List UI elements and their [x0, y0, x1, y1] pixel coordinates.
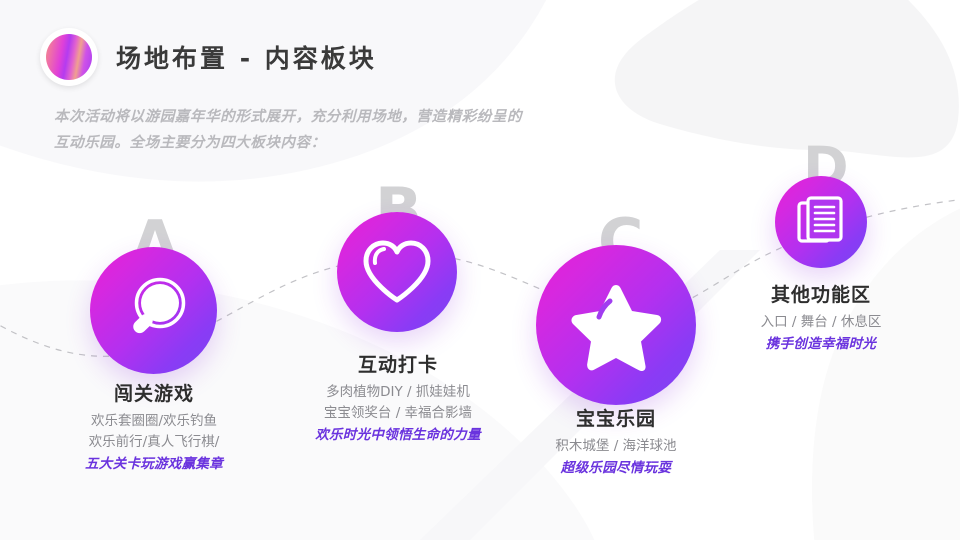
block-line-a-2: 欢乐前行/真人飞行棋/ — [18, 432, 290, 453]
documents-icon — [795, 195, 847, 249]
block-line-d-1: 入口 / 舞台 / 休息区 — [685, 312, 957, 333]
block-highlight-d: 携手创造幸福时光 — [685, 334, 957, 355]
slide-header: 场地布置 - 内容板块 — [40, 28, 377, 86]
block-caption-a: 闯关游戏 欢乐套圈圈/欢乐钓鱼 欢乐前行/真人飞行棋/ 五大关卡玩游戏赢集章 — [18, 379, 290, 475]
block-bubble-d[interactable] — [775, 176, 867, 268]
block-line-c-1: 积木城堡 / 海洋球池 — [480, 436, 752, 457]
subtitle-line-2: 互动乐园。全场主要分为四大板块内容： — [54, 130, 522, 156]
block-caption-c: 宝宝乐园 积木城堡 / 海洋球池 超级乐园尽情玩耍 — [480, 404, 752, 479]
block-bubble-b[interactable] — [337, 212, 457, 332]
block-highlight-a: 五大关卡玩游戏赢集章 — [18, 454, 290, 475]
brand-logo-gradient — [46, 34, 92, 80]
block-line-a-1: 欢乐套圈圈/欢乐钓鱼 — [18, 411, 290, 432]
block-bubble-a[interactable] — [90, 247, 217, 374]
block-bubble-c[interactable] — [536, 245, 696, 405]
slide-subtitle: 本次活动将以游园嘉年华的形式展开，充分利用场地，营造精彩纷呈的 互动乐园。全场主… — [54, 104, 522, 156]
block-title-a: 闯关游戏 — [18, 379, 290, 406]
block-title-d: 其他功能区 — [685, 280, 957, 307]
block-title-c: 宝宝乐园 — [480, 404, 752, 431]
block-title-b: 互动打卡 — [262, 350, 534, 377]
block-caption-d: 其他功能区 入口 / 舞台 / 休息区 携手创造幸福时光 — [685, 280, 957, 355]
block-line-b-1: 多肉植物DIY / 抓娃娃机 — [262, 382, 534, 403]
magnifier-icon — [118, 275, 190, 347]
heart-icon — [360, 238, 434, 306]
slide-canvas: 场地布置 - 内容板块 本次活动将以游园嘉年华的形式展开，充分利用场地，营造精彩… — [0, 0, 960, 540]
star-icon — [568, 279, 664, 371]
page-title: 场地布置 - 内容板块 — [116, 39, 377, 75]
brand-logo-icon — [40, 28, 98, 86]
block-highlight-c: 超级乐园尽情玩耍 — [480, 458, 752, 479]
subtitle-line-1: 本次活动将以游园嘉年华的形式展开，充分利用场地，营造精彩纷呈的 — [54, 104, 522, 130]
